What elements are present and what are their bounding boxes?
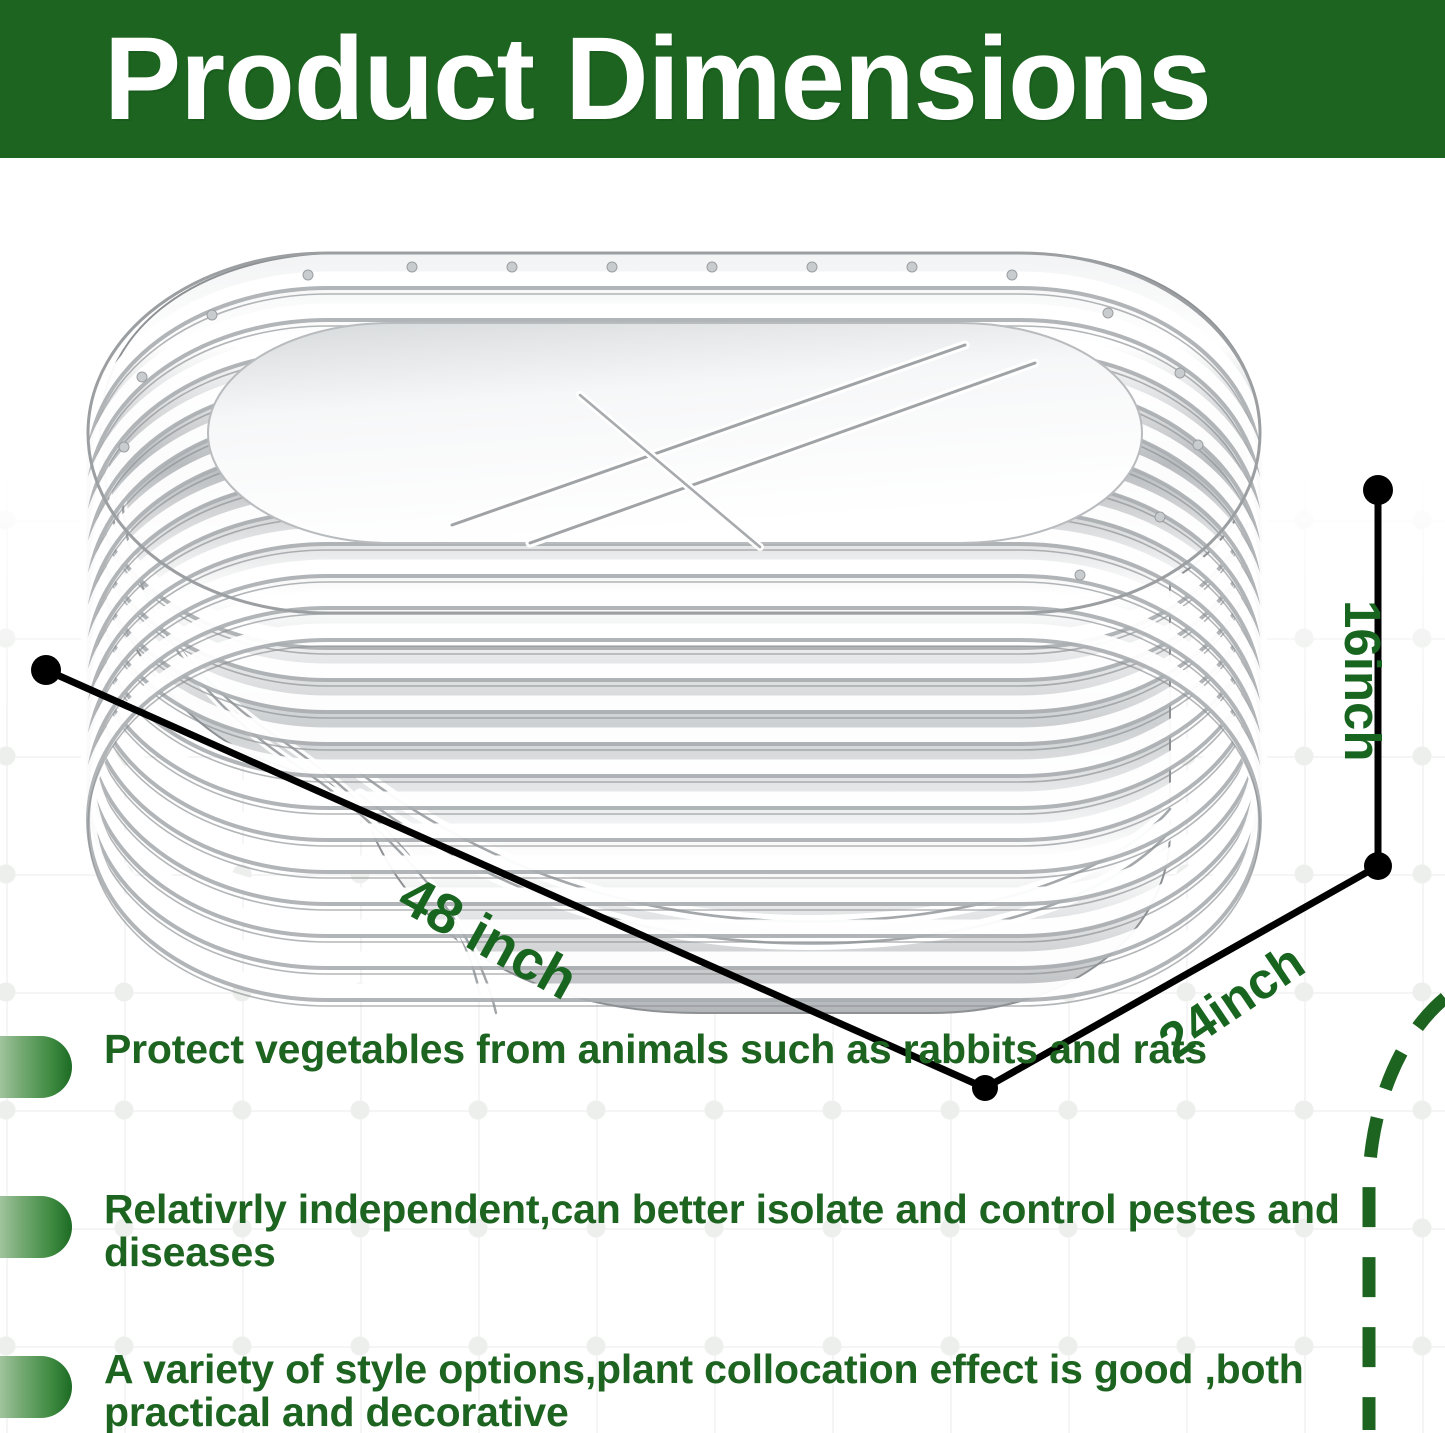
bullet-marker-icon — [0, 1356, 72, 1418]
infographic-page: Product Dimensions — [0, 0, 1445, 1433]
dimension-label-height: 16inch — [1333, 600, 1392, 762]
product-illustration — [60, 195, 1370, 1035]
feature-text: A variety of style options,plant colloca… — [104, 1348, 1400, 1433]
feature-item: Relativrly independent,can better isolat… — [0, 1188, 1400, 1275]
header-banner: Product Dimensions — [0, 0, 1445, 158]
planter-interior — [208, 323, 1142, 543]
bullet-marker-icon — [0, 1196, 72, 1258]
bullet-marker-icon — [0, 1036, 72, 1098]
feature-text: Relativrly independent,can better isolat… — [104, 1188, 1400, 1275]
page-title: Product Dimensions — [104, 20, 1211, 138]
feature-text: Protect vegetables from animals such as … — [104, 1028, 1400, 1071]
feature-item: A variety of style options,plant colloca… — [0, 1348, 1400, 1433]
feature-item: Protect vegetables from animals such as … — [0, 1028, 1400, 1098]
